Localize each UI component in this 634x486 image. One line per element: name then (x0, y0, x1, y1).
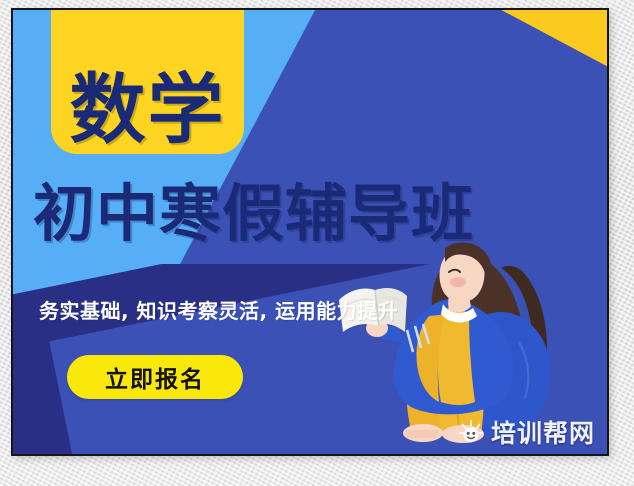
subject-badge-label: 数学 (70, 72, 226, 148)
site-watermark-label: 培训帮网 (491, 414, 595, 450)
subject-badge: 数学 (51, 8, 244, 154)
smiley-sun-icon (458, 419, 484, 445)
enroll-now-button[interactable]: 立即报名 (67, 355, 243, 399)
enroll-now-label: 立即报名 (105, 360, 205, 394)
banner-subtitle: 务实基础, 知识考察灵活, 运用能力提升 (39, 295, 398, 324)
course-promo-banner: 数学 初中寒假辅导班 务实基础, 知识考察灵活, 运用能力提升 立即报名 (11, 8, 609, 456)
banner-headline: 初中寒假辅导班 (33, 182, 474, 246)
page-background: 数学 初中寒假辅导班 务实基础, 知识考察灵活, 运用能力提升 立即报名 (0, 0, 634, 486)
site-watermark: 培训帮网 (452, 412, 601, 452)
